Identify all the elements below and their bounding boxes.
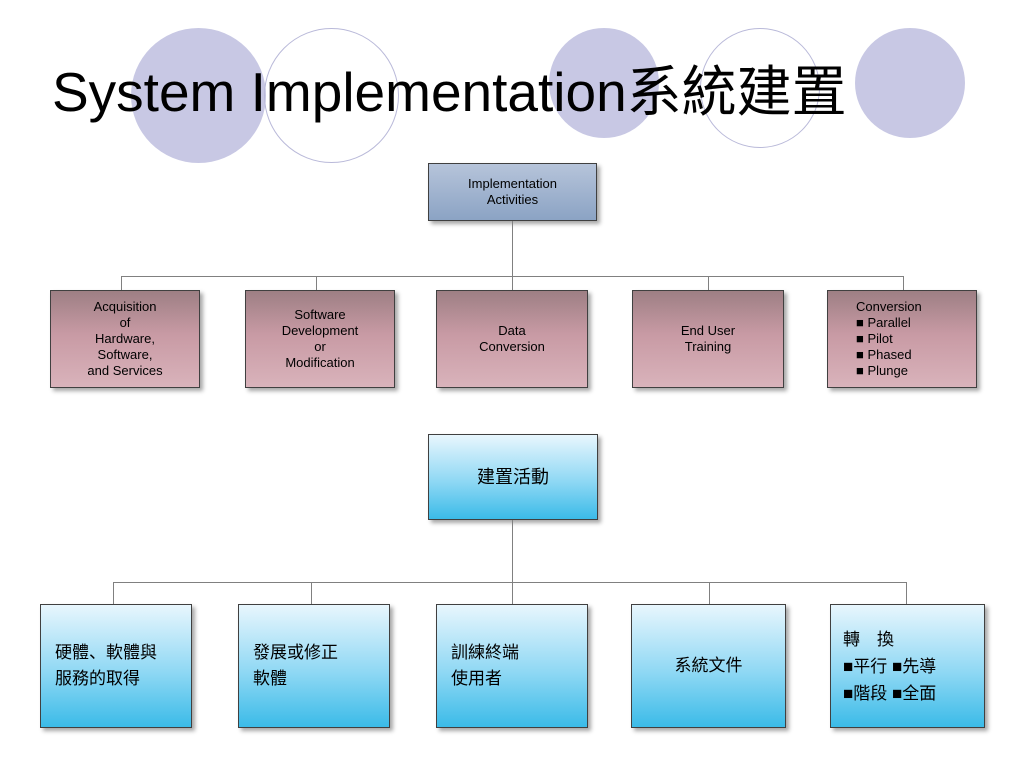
cn-leaf-label-1: 硬體、軟體與 服務的取得 xyxy=(41,640,191,692)
cn-leaf-label-3: 訓練終端 使用者 xyxy=(437,640,587,692)
cn-root-box: 建置活動 xyxy=(428,434,598,520)
cn-connector-drop-3 xyxy=(512,582,513,604)
en-root-label: Implementation Activities xyxy=(429,176,596,208)
en-leaf-box-3: Data Conversion xyxy=(436,290,588,388)
en-connector-drop-2 xyxy=(316,276,317,290)
en-connector-stem xyxy=(512,221,513,276)
en-leaf-box-4: End User Training xyxy=(632,290,784,388)
en-leaf-label-2: Software Development or Modification xyxy=(246,307,394,371)
decorative-circle-filled-3 xyxy=(855,28,965,138)
page-title: System Implementation系統建置 xyxy=(52,56,847,128)
cn-connector-bus xyxy=(113,582,906,583)
en-connector-drop-4 xyxy=(708,276,709,290)
cn-connector-drop-1 xyxy=(113,582,114,604)
cn-leaf-box-5: 轉 換 ■平行 ■先導 ■階段 ■全面 xyxy=(830,604,985,728)
cn-leaf-box-4: 系統文件 xyxy=(631,604,786,728)
en-leaf-label-5: Conversion ■ Parallel ■ Pilot ■ Phased ■… xyxy=(828,299,976,379)
cn-leaf-box-2: 發展或修正 軟體 xyxy=(238,604,390,728)
cn-leaf-box-1: 硬體、軟體與 服務的取得 xyxy=(40,604,192,728)
en-root-box: Implementation Activities xyxy=(428,163,597,221)
en-leaf-box-5: Conversion ■ Parallel ■ Pilot ■ Phased ■… xyxy=(827,290,977,388)
cn-leaf-box-3: 訓練終端 使用者 xyxy=(436,604,588,728)
en-leaf-box-2: Software Development or Modification xyxy=(245,290,395,388)
en-connector-drop-3 xyxy=(512,276,513,290)
cn-connector-drop-2 xyxy=(311,582,312,604)
cn-connector-drop-5 xyxy=(906,582,907,604)
cn-connector-stem xyxy=(512,520,513,582)
cn-leaf-label-4: 系統文件 xyxy=(632,653,785,679)
en-leaf-box-1: Acquisition of Hardware, Software, and S… xyxy=(50,290,200,388)
en-connector-drop-1 xyxy=(121,276,122,290)
en-leaf-label-4: End User Training xyxy=(633,323,783,355)
slide-canvas: System Implementation系統建置 Implementation… xyxy=(0,0,1024,768)
cn-root-label: 建置活動 xyxy=(429,465,597,489)
cn-leaf-label-2: 發展或修正 軟體 xyxy=(239,640,389,692)
en-leaf-label-3: Data Conversion xyxy=(437,323,587,355)
cn-leaf-label-5: 轉 換 ■平行 ■先導 ■階段 ■全面 xyxy=(831,626,984,707)
en-connector-drop-5 xyxy=(903,276,904,290)
cn-connector-drop-4 xyxy=(709,582,710,604)
en-leaf-label-1: Acquisition of Hardware, Software, and S… xyxy=(51,299,199,379)
